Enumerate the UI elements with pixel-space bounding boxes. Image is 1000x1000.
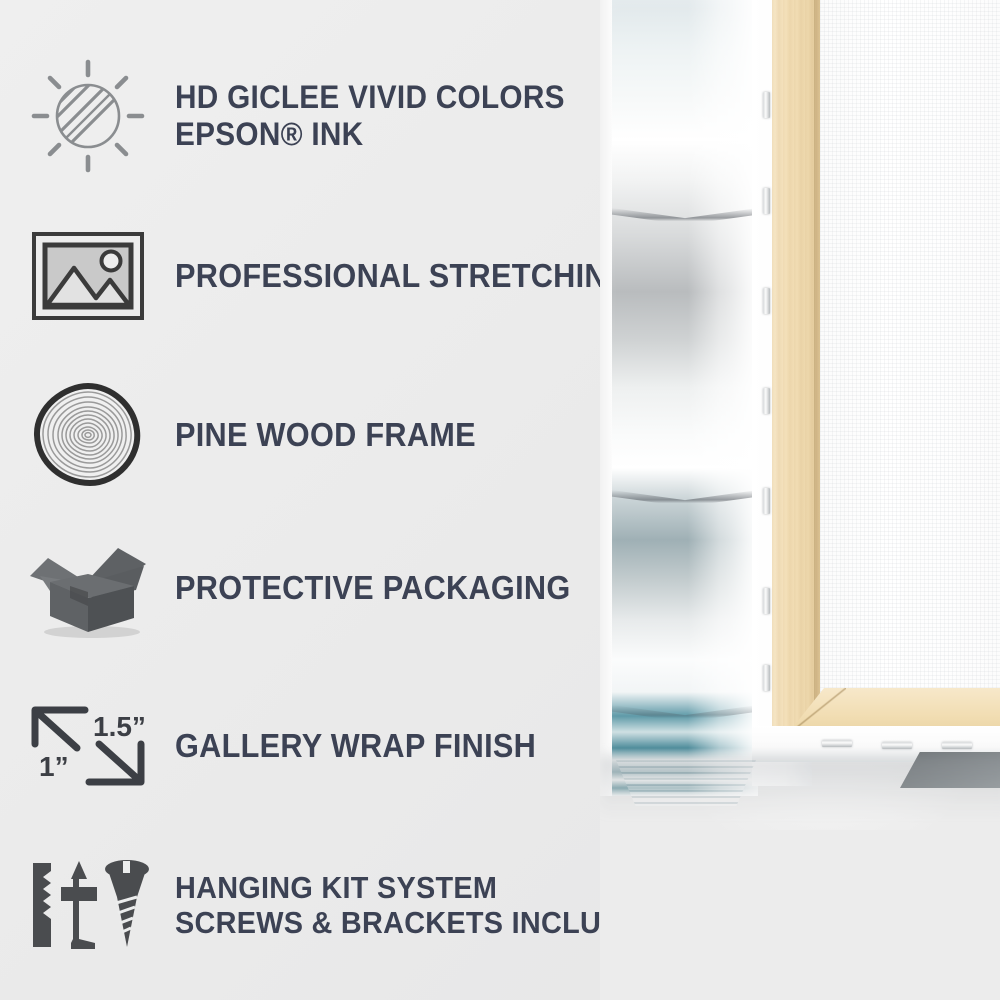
feature-row: HANGING KIT SYSTEM SCREWS & BRACKETS INC… [0,845,620,965]
feature-row: PINE WOOD FRAME [0,375,620,495]
feature-label-line: PINE WOOD FRAME [175,416,589,453]
feature-row: PROFESSIONAL STRETCHING [0,218,620,333]
feature-label-line: PROFESSIONAL STRETCHING [175,257,631,294]
feature-list: HD GICLEE VIVID COLORS EPSON® INK PROFES… [0,0,620,1000]
feature-label: GALLERY WRAP FINISH [175,727,589,764]
infographic-canvas: HD GICLEE VIVID COLORS EPSON® INK PROFES… [0,0,1000,1000]
feature-label-line: EPSON® INK [175,116,589,152]
feature-row: 1.5” 1” GALLERY WRAP FINISH [0,688,620,803]
dimension-arrows-icon: 1.5” 1” [0,691,175,801]
staple [763,92,770,118]
feature-label: PINE WOOD FRAME [175,416,589,453]
staple [763,288,770,314]
staple [763,488,770,514]
staple [763,188,770,214]
feature-label-line: HANGING KIT SYSTEM [175,870,663,905]
feature-label-line: HD GICLEE VIVID COLORS [175,79,589,115]
sun-giclee-icon [0,61,175,171]
feature-label: PROFESSIONAL STRETCHING [175,257,631,294]
tree-rings-icon [0,380,175,490]
staple [763,665,770,691]
feature-label-line: SCREWS & BRACKETS INCLUDED [175,905,663,940]
canvas-drop-shadow [600,756,1000,816]
feature-label-line: GALLERY WRAP FINISH [175,727,589,764]
staple [882,742,912,749]
staple [763,388,770,414]
hanging-hardware-icon [0,850,175,960]
canvas-edge-photo [600,0,1000,1000]
pine-stretcher-bar [772,0,820,741]
framed-picture-icon [0,221,175,331]
feature-label: PROTECTIVE PACKAGING [175,569,589,606]
depth-label: 1.5” [93,711,146,742]
canvas-back-weave [820,0,1000,756]
width-label: 1” [39,751,69,782]
artwork-fold-highlight [688,0,758,796]
staple [942,742,972,749]
feature-label: HD GICLEE VIVID COLORS EPSON® INK [175,79,589,151]
open-box-icon [0,533,175,643]
staple [822,740,852,747]
feature-label: HANGING KIT SYSTEM SCREWS & BRACKETS INC… [175,870,663,940]
staple [763,588,770,614]
feature-row: PROTECTIVE PACKAGING [0,528,620,648]
feature-label-line: PROTECTIVE PACKAGING [175,569,589,606]
feature-row: HD GICLEE VIVID COLORS EPSON® INK [0,48,620,183]
